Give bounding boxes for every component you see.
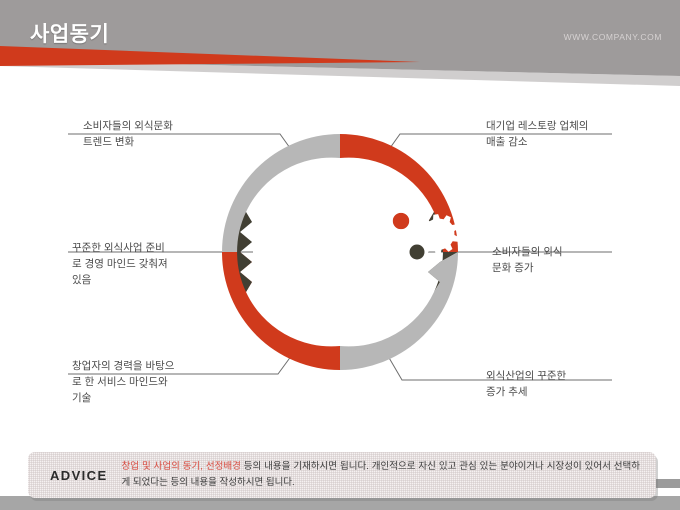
label-bottom-right: 외식산업의 꾸준한 증가 추세: [486, 368, 656, 400]
advice-highlight: 창업 및 사업의 동기, 선정배경: [122, 461, 241, 472]
footer-shadow-bar: [0, 496, 680, 510]
site-url: WWW.COMPANY.COM: [564, 32, 662, 42]
advice-text: 창업 및 사업의 동기, 선정배경 등의 내용을 기재하시면 됩니다. 개인적으…: [122, 459, 656, 491]
label-bottom-left: 창업자의 경력을 바탕으 로 한 서비스 마인드와 기술: [72, 358, 237, 406]
slide-canvas: 사업동기 WWW.COMPANY.COM: [0, 0, 680, 510]
page-title: 사업동기: [30, 18, 109, 48]
advice-box: ADVICE 창업 및 사업의 동기, 선정배경 등의 내용을 기재하시면 됩니…: [28, 452, 656, 498]
slide-header: 사업동기 WWW.COMPANY.COM: [0, 0, 680, 92]
org-chart-icon: [276, 290, 342, 326]
label-top-right: 대기업 레스토랑 업체의 매출 감소: [486, 118, 656, 150]
advice-label: ADVICE: [28, 468, 122, 483]
footer-right-tab: [656, 479, 680, 488]
label-middle-left: 꾸준한 외식사업 준비 로 경영 마인드 갖춰져 있음: [72, 240, 237, 288]
growth-chart-icon: [363, 279, 410, 328]
label-middle-right: 소비자들의 외식 문화 증가: [492, 244, 662, 276]
label-top-left: 소비자들의 외식문화 트렌드 변화: [83, 118, 248, 150]
